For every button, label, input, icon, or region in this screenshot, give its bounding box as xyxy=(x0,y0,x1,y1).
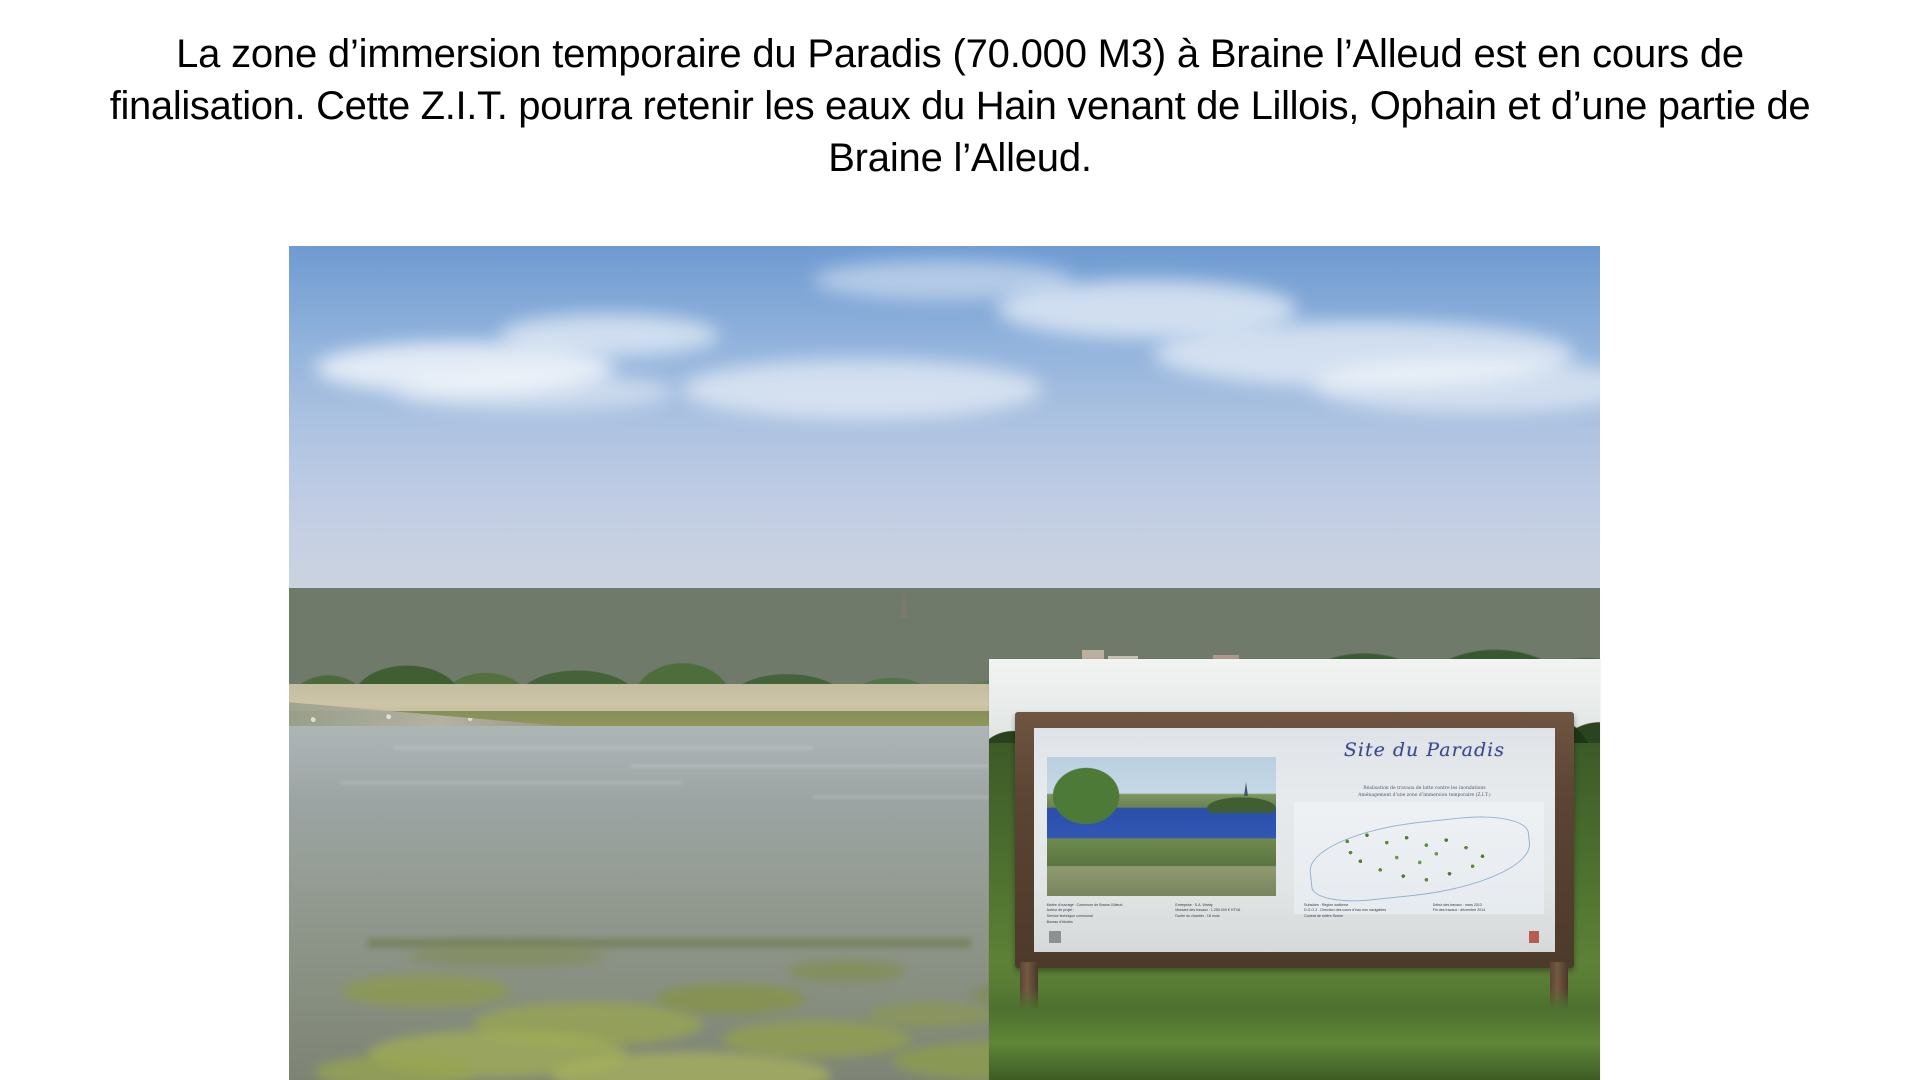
church-steeple xyxy=(900,592,908,618)
sign-logo-left-icon xyxy=(1049,931,1061,943)
sign-title: Site du Paradis xyxy=(1305,739,1545,761)
sign-photo-treeline xyxy=(1207,788,1276,813)
algae-patch xyxy=(656,984,806,1014)
algae-patch xyxy=(866,1002,996,1028)
sign-subtitle: Réalisation de travaux de lutte contre l… xyxy=(1305,786,1545,800)
water-ripple xyxy=(394,747,814,749)
algae-patch xyxy=(787,959,907,983)
cloud-shape xyxy=(813,260,1073,300)
sign-subtitle-line-2: Aménagement d’une zone d’immersion tempo… xyxy=(1305,793,1545,800)
sign-text-column: Subsides : Région wallonne D.G.O.3 - Dir… xyxy=(1304,903,1413,948)
sign-text-line: Durée du chantier : 18 mois xyxy=(1175,914,1284,920)
sign-text-column: Entreprise : S.A. Wanty Montant des trav… xyxy=(1175,903,1284,948)
cloud-shape xyxy=(499,314,719,356)
inset-photo-information-sign[interactable]: Site du Paradis Réalisation de travaux d… xyxy=(989,659,1600,1080)
sign-text-line: Fin des travaux : décembre 2014 xyxy=(1433,908,1542,914)
sign-wooden-frame: Site du Paradis Réalisation de travaux d… xyxy=(1015,712,1574,969)
sign-text-line: Contrat de rivière Senne xyxy=(1304,914,1413,920)
title-line-1: La zone d’immersion temporaire du Paradi… xyxy=(18,28,1902,80)
cloud-shape xyxy=(682,359,1042,419)
sign-map-panel xyxy=(1294,802,1544,914)
sign-text-blocks: Maître d’ouvrage : Commune de Braine-l’A… xyxy=(1047,903,1542,948)
algae-patch xyxy=(341,974,511,1008)
algae-patch xyxy=(722,1020,912,1058)
inset-foreground-grass xyxy=(989,987,1600,1080)
sign-board-panel: Site du Paradis Réalisation de travaux d… xyxy=(1034,728,1555,951)
sign-logo-right-icon xyxy=(1529,931,1539,943)
sign-photo-tree xyxy=(1051,760,1129,832)
map-zone-marking xyxy=(1334,829,1499,892)
sign-photo-steeple xyxy=(1244,782,1248,796)
cloud-shape xyxy=(394,373,674,411)
slide-title: La zone d’immersion temporaire du Paradi… xyxy=(18,28,1902,184)
sign-text-line: Bureau d’études xyxy=(1047,920,1156,926)
sign-photo-panel xyxy=(1047,757,1276,896)
sign-text-column: Début des travaux : mars 2013 Fin des tr… xyxy=(1433,903,1542,948)
cloud-shape xyxy=(1312,359,1600,413)
slide-canvas: La zone d’immersion temporaire du Paradi… xyxy=(0,0,1920,1080)
water-ripple xyxy=(341,782,682,784)
algae-patch xyxy=(407,945,607,967)
title-line-3: Braine l’Alleud. xyxy=(18,132,1902,184)
title-line-2: finalisation. Cette Z.I.T. pourra reteni… xyxy=(18,80,1902,132)
sign-text-column: Maître d’ouvrage : Commune de Braine-l’A… xyxy=(1047,903,1156,948)
